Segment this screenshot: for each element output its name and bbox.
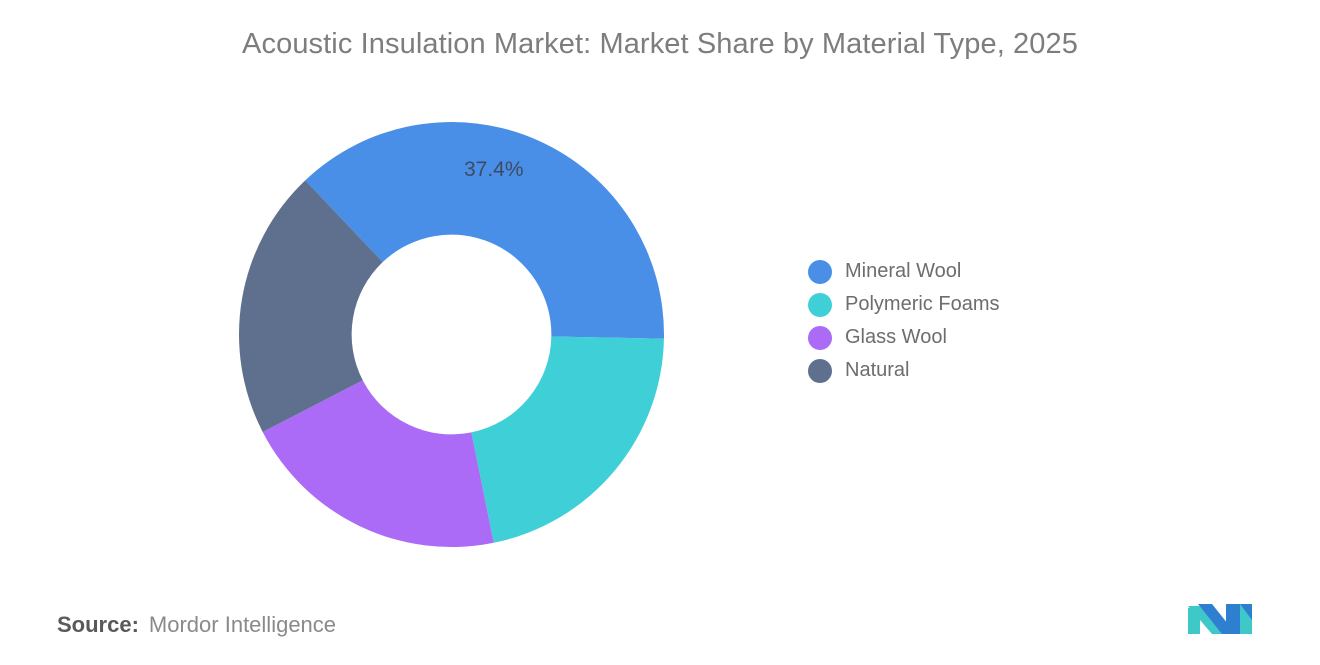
legend-item-label: Natural xyxy=(845,359,909,382)
legend-item-label: Mineral Wool xyxy=(845,260,961,283)
legend-swatch-icon xyxy=(808,260,832,284)
donut-slice[interactable] xyxy=(471,336,664,542)
legend-swatch-icon xyxy=(808,293,832,317)
legend-item-label: Glass Wool xyxy=(845,326,947,349)
legend-item-label: Polymeric Foams xyxy=(845,293,999,316)
page-title: Acoustic Insulation Market: Market Share… xyxy=(0,26,1320,64)
donut-slices xyxy=(239,122,664,547)
donut-chart-svg xyxy=(238,121,665,548)
legend-item-polymeric-foams[interactable]: Polymeric Foams xyxy=(808,288,1108,321)
legend-item-glass-wool[interactable]: Glass Wool xyxy=(808,321,1108,354)
chart-page: Acoustic Insulation Market: Market Share… xyxy=(0,0,1320,665)
legend-item-natural[interactable]: Natural xyxy=(808,354,1108,387)
donut-chart: 37.4% xyxy=(238,121,665,548)
legend-swatch-icon xyxy=(808,359,832,383)
chart-legend: Mineral Wool Polymeric Foams Glass Wool … xyxy=(808,255,1108,387)
donut-slice[interactable] xyxy=(305,122,664,339)
source-attribution: Source: Mordor Intelligence xyxy=(57,612,336,638)
source-label: Source: xyxy=(57,612,139,638)
mordor-intelligence-logo-icon xyxy=(1186,598,1256,638)
source-value: Mordor Intelligence xyxy=(149,612,336,638)
legend-item-mineral-wool[interactable]: Mineral Wool xyxy=(808,255,1108,288)
legend-swatch-icon xyxy=(808,326,832,350)
